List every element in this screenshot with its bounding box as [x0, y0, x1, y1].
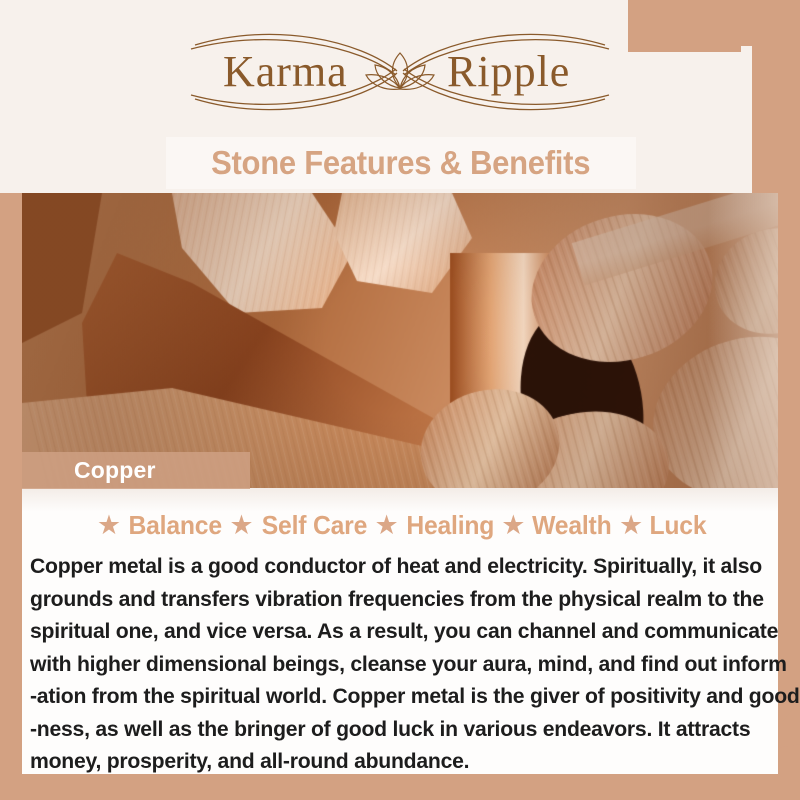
benefit-label: Self Care [261, 510, 366, 541]
description-line: -ation from the spiritual world. Copper … [30, 680, 765, 713]
benefit-label: Healing [406, 510, 494, 541]
lotus-icon [366, 53, 434, 89]
description-line: -ness, as well as the bringer of good lu… [30, 713, 765, 746]
star-icon: ★ [370, 512, 404, 539]
benefit-item: ★Self Care [224, 510, 369, 541]
benefit-item: ★Luck [614, 510, 708, 541]
frame-bottom-band [0, 774, 800, 800]
content-panel: ★Balance★Self Care★Healing★Wealth★Luck C… [22, 488, 778, 774]
star-icon: ★ [224, 512, 258, 539]
star-icon: ★ [92, 512, 126, 539]
content-fade-strip [22, 488, 778, 512]
description-line: money, prosperity, and all-round abundan… [30, 745, 765, 778]
description-line: grounds and transfers vibration frequenc… [30, 583, 765, 616]
benefit-label: Wealth [533, 510, 612, 541]
benefit-label: Luck [650, 510, 707, 541]
brand-name-right: Ripple [447, 47, 570, 96]
hero-image [22, 193, 778, 488]
logo-artwork: Karma Ripple [165, 23, 635, 121]
description-line: with higher dimensional beings, cleanse … [30, 648, 765, 681]
benefit-label: Balance [129, 510, 222, 541]
star-icon: ★ [614, 512, 648, 539]
description-paragraph: Copper metal is a good conductor of heat… [30, 550, 776, 778]
subject-label-text: Copper [22, 457, 156, 484]
brand-name-left: Karma [223, 47, 348, 96]
frame-corner-notch [741, 46, 752, 57]
benefit-item: ★Wealth [496, 510, 614, 541]
subject-label: Copper [22, 452, 250, 489]
title-banner: Stone Features & Benefits [166, 137, 636, 189]
frame-left-band [0, 193, 22, 778]
benefit-item: ★Balance [92, 510, 225, 541]
copper-bars-photo [22, 193, 778, 488]
description-line: Copper metal is a good conductor of heat… [30, 550, 765, 583]
benefit-item: ★Healing [370, 510, 497, 541]
product-info-card: Karma Ripple Stone Features & Benefits C… [0, 0, 800, 800]
page-title: Stone Features & Benefits [211, 144, 590, 182]
benefits-row: ★Balance★Self Care★Healing★Wealth★Luck [22, 510, 778, 541]
description-line: spiritual one, and vice versa. As a resu… [30, 615, 765, 648]
star-icon: ★ [496, 512, 530, 539]
